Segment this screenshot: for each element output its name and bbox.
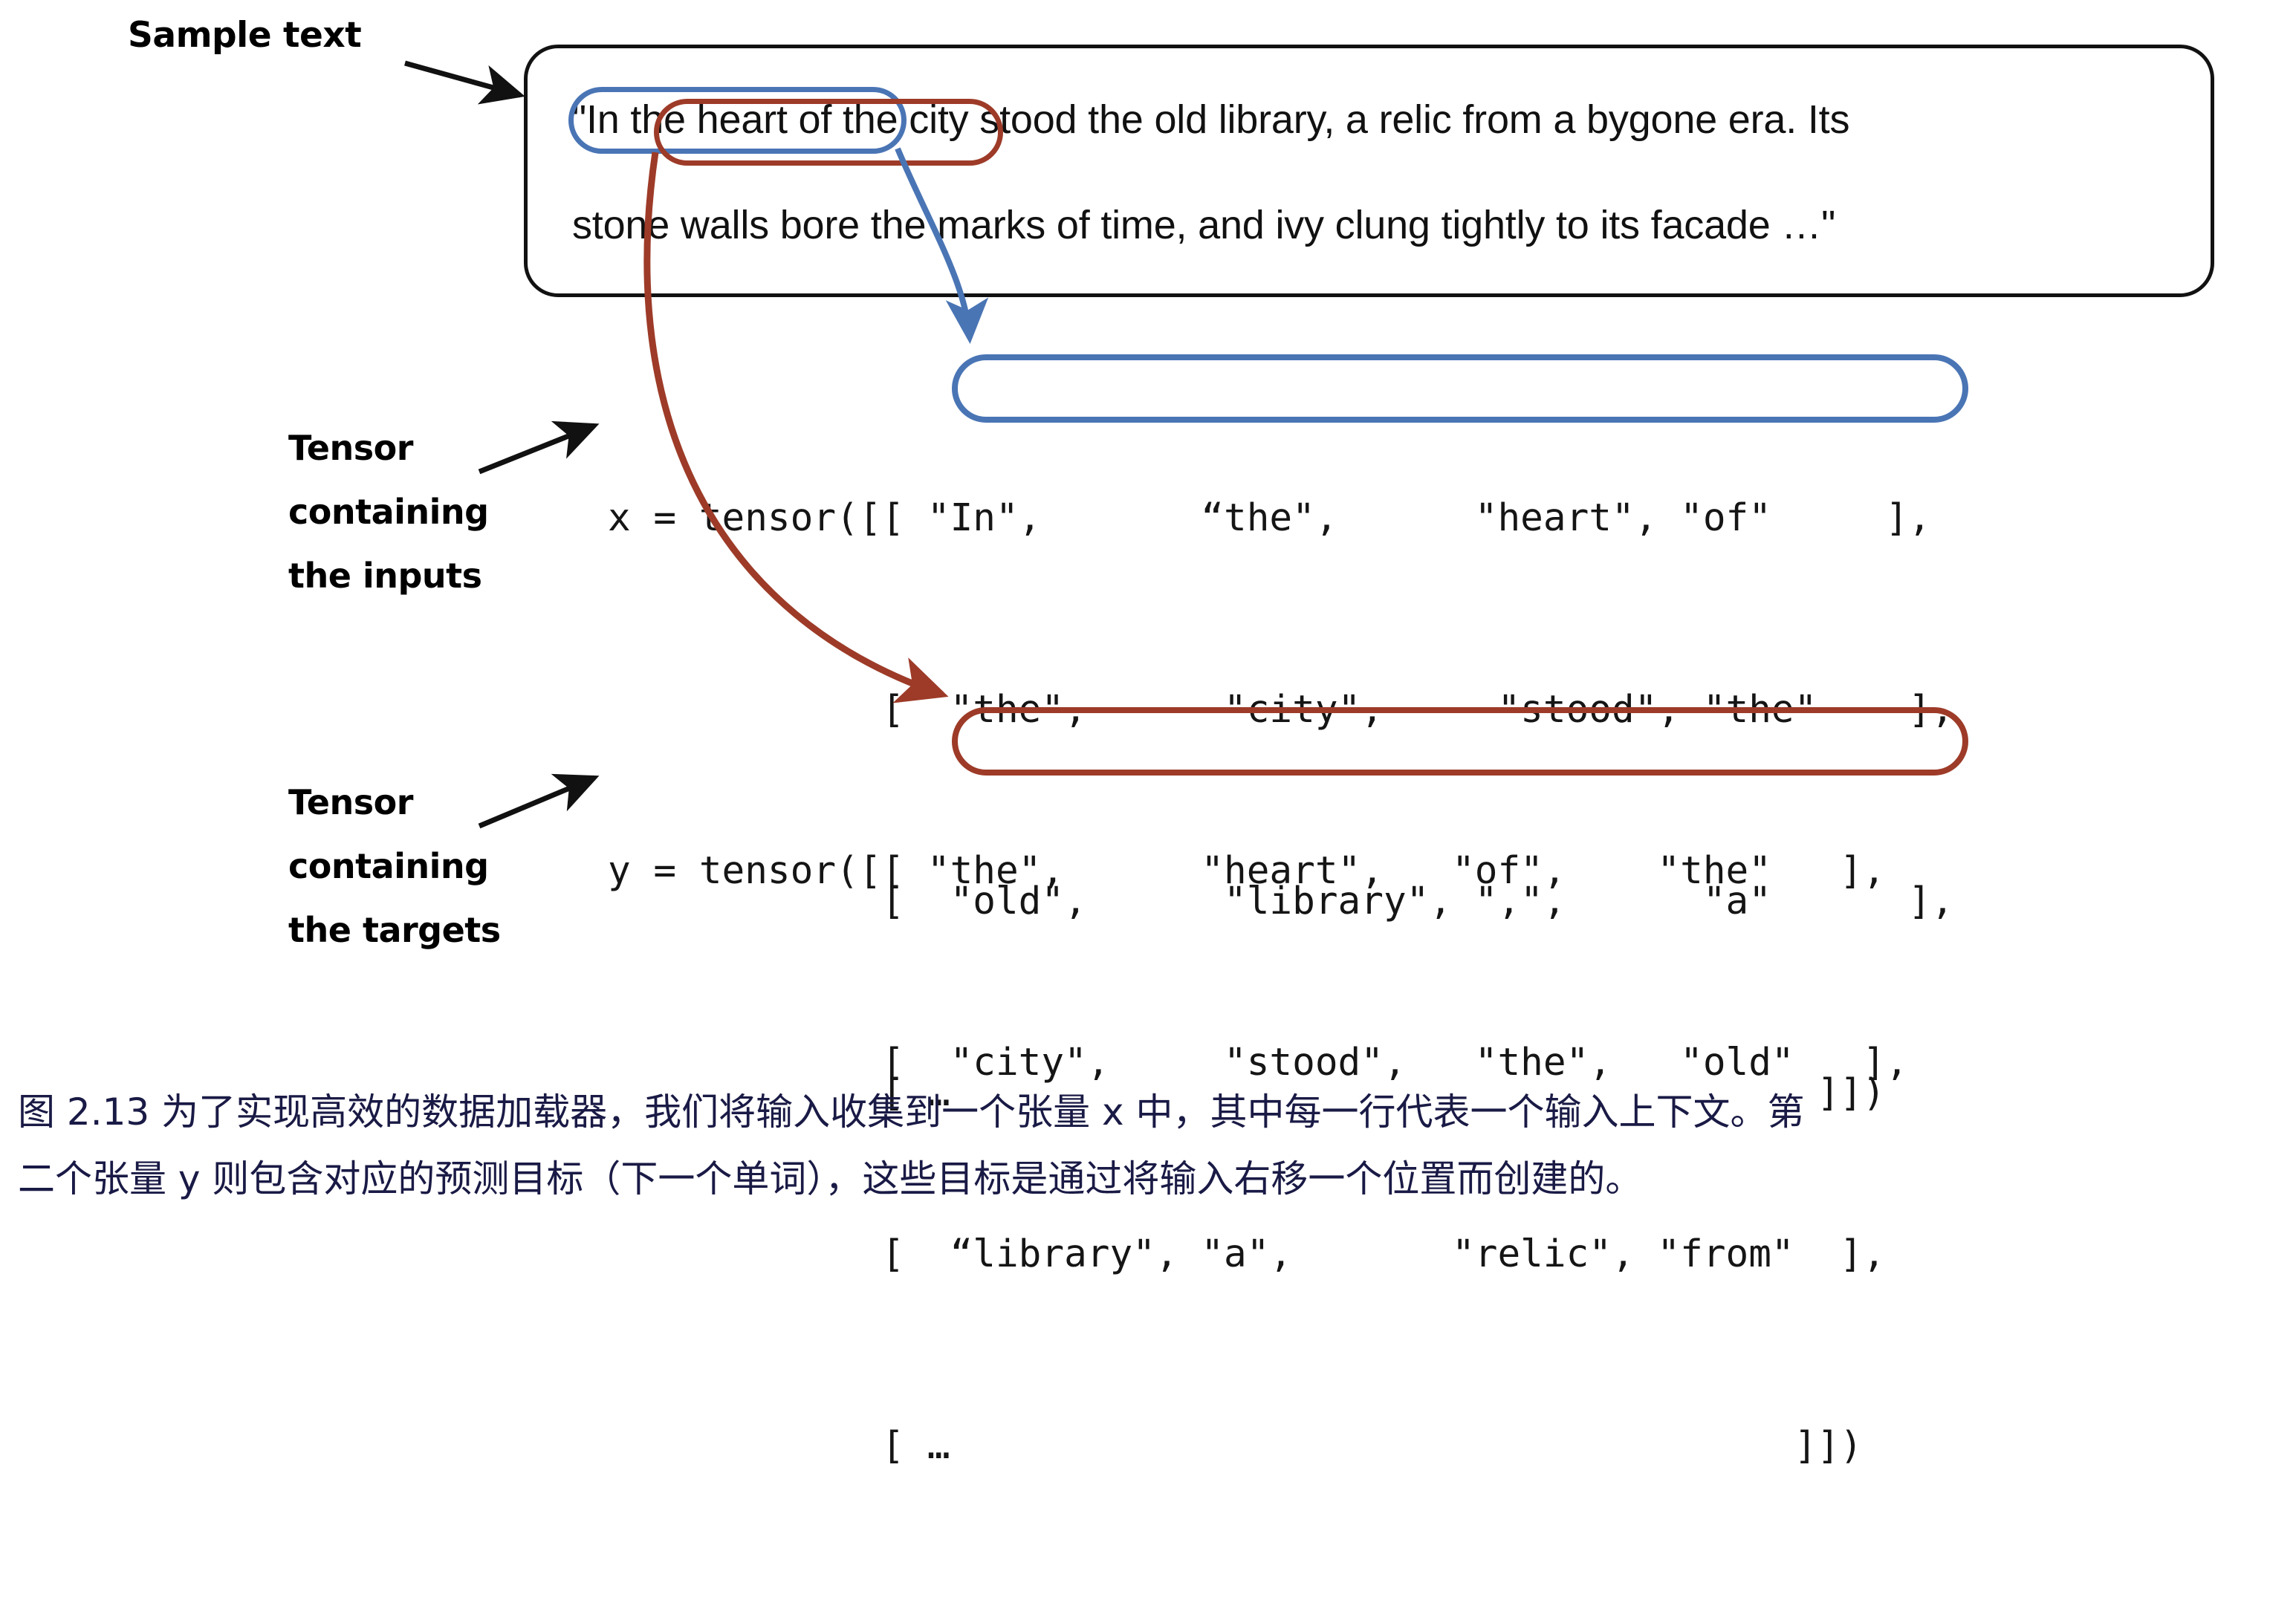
tensor-inputs-label: Tensorcontainingthe inputs [288,416,489,608]
y-tensor-row: [ “library", "a", "relic", "from" ], [608,1223,1908,1287]
y-tensor-row: [ … ]]) [608,1414,1908,1478]
red-highlight-target-window [654,99,1003,166]
red-highlight-y-first-row [952,707,1968,776]
sample-text-label: Sample text [128,4,361,68]
sample-text-box [524,45,2214,297]
blue-highlight-x-first-row [952,354,1968,423]
tensor-inputs-arrow [479,426,594,472]
sample-text-line-2: stone walls bore the marks of time, and … [572,202,1835,248]
figure-canvas: "In the heart of the city stood the old … [0,0,2296,1239]
caption-line-1: 图 2.13 为了实现高效的数据加载器，我们将输入收集到一个张量 x 中，其中每… [18,1090,1805,1134]
sample-text-arrow [405,63,520,95]
y-tensor-row: y = tensor([[ "the", "heart", "of", "the… [608,839,1908,903]
tensor-targets-label: Tensorcontainingthe targets [288,770,501,962]
x-tensor-row: x = tensor([[ "In", “the", "heart", "of"… [608,487,1954,550]
caption-line-2: 二个张量 y 则包含对应的预测目标（下一个单词），这些目标是通过将输入右移一个位… [18,1145,2292,1212]
figure-caption: 图 2.13 为了实现高效的数据加载器，我们将输入收集到一个张量 x 中，其中每… [18,1079,2292,1212]
